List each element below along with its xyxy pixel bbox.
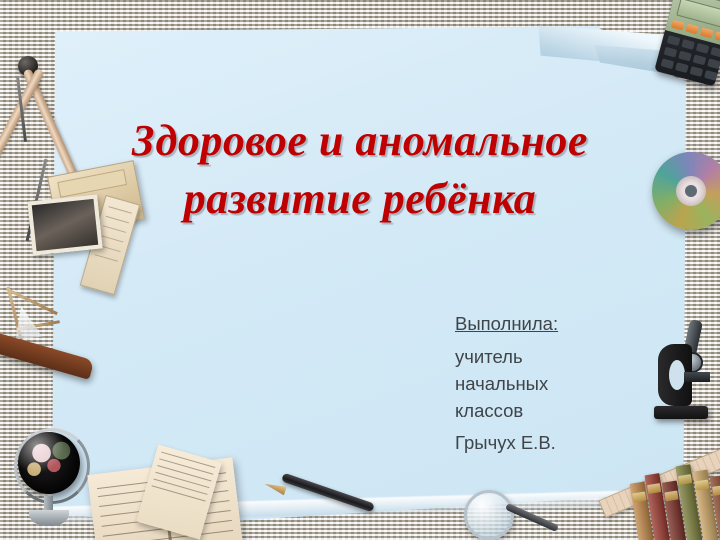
calculator-key[interactable]	[678, 51, 692, 62]
calculator-key[interactable]	[696, 43, 710, 54]
disc-center-hole	[685, 185, 697, 197]
globe-base	[29, 510, 69, 526]
book-label	[632, 492, 646, 503]
ship-hull	[0, 328, 94, 380]
calculator-key[interactable]	[661, 58, 675, 69]
calculator-key[interactable]	[704, 70, 718, 81]
globe-sphere	[18, 432, 80, 494]
compact-disc-icon	[652, 152, 720, 230]
fountain-pen-icon	[256, 486, 386, 534]
book-label	[678, 474, 692, 485]
author-name: Грычух Е.В.	[455, 431, 670, 454]
antique-books-icon	[628, 459, 720, 540]
microscope-stage	[684, 372, 710, 382]
book-label	[712, 485, 720, 496]
slide-title: Здоровое и аномальное развитие ребёнка	[60, 112, 660, 228]
calculator-key[interactable]	[675, 62, 689, 73]
book-label	[647, 483, 661, 494]
author-role-line-2: начальных	[455, 372, 670, 395]
calculator-key[interactable]	[710, 47, 720, 58]
calculator-key[interactable]	[690, 66, 704, 77]
title-line-2: развитие ребёнка	[60, 170, 660, 228]
book-label	[695, 480, 709, 491]
tag-rule	[100, 235, 123, 243]
calculator-key[interactable]	[681, 39, 695, 50]
scrap-rule	[153, 479, 207, 495]
calculator-key[interactable]	[664, 47, 678, 58]
tag-rule	[95, 254, 118, 262]
author-block: Выполнила: учитель начальных классов Гры…	[455, 312, 670, 454]
scrap-rule	[155, 472, 209, 488]
calculator-key[interactable]	[693, 54, 707, 65]
scrap-rule	[159, 458, 213, 474]
author-lead-label: Выполнила:	[455, 312, 558, 335]
book-label	[664, 490, 678, 501]
calculator-key[interactable]	[707, 58, 720, 69]
magnifying-glass-icon	[464, 490, 574, 540]
presentation-slide: Здоровое и аномальное развитие ребёнка В…	[0, 0, 720, 540]
model-ship-icon	[0, 284, 136, 380]
magnifier-lens	[464, 490, 514, 540]
scrap-rule	[152, 485, 206, 501]
author-role-line-3: классов	[455, 399, 670, 422]
title-line-1: Здоровое и аномальное	[132, 116, 588, 165]
calculator-key[interactable]	[667, 35, 681, 46]
author-role-line-1: учитель	[455, 345, 670, 368]
scrap-rule	[157, 465, 211, 481]
globe-icon	[10, 424, 96, 530]
